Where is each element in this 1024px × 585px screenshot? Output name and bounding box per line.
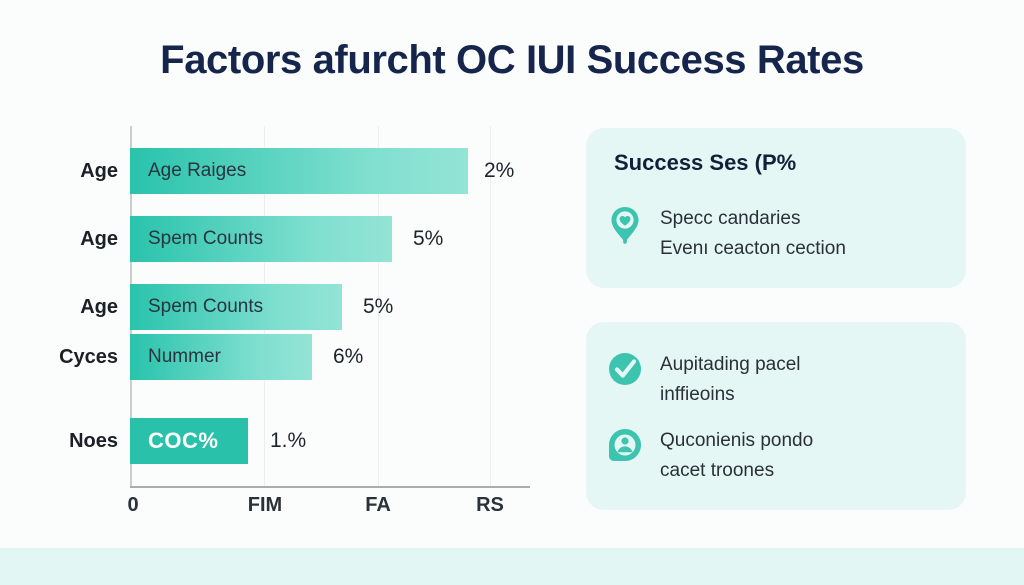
location-pin-heart-icon: [608, 206, 642, 244]
bar-chart: Age Age Age Cyces Noes Age Raiges 2% Spe…: [30, 126, 560, 526]
person-circle-icon: [608, 428, 642, 466]
bar-value-0: 2%: [484, 148, 514, 194]
card-item-2-0[interactable]: Aupitading pacel inffieoins: [608, 350, 801, 410]
card-item-1-0-text: Specc candaries Evenı ceacton cection: [660, 204, 846, 264]
card-item-2-1-text: Quconienis pondo cacet troones: [660, 426, 813, 486]
bar-value-2: 5%: [363, 284, 393, 330]
bar-value-1: 5%: [413, 216, 443, 262]
footer-band: [0, 548, 1024, 585]
bar-value-3: 6%: [333, 334, 363, 380]
card-item-1-0[interactable]: Specc candaries Evenı ceacton cection: [608, 204, 846, 264]
info-card-recommendations[interactable]: Aupitading pacel inffieoins Quconienis p…: [586, 322, 966, 510]
bar-value-4: 1.%: [270, 418, 306, 464]
bar-label-0: Age Raiges: [148, 148, 246, 194]
card-item-2-0-line-0: Aupitading pacel: [660, 354, 801, 375]
infographic-page: Factors afurcht OC IUI Success Rates Age…: [0, 0, 1024, 585]
card-item-2-0-text: Aupitading pacel inffieoins: [660, 350, 801, 410]
xtick-label-0: 0: [127, 494, 138, 517]
category-label-0: Age: [30, 148, 118, 194]
category-label-1: Age: [30, 216, 118, 262]
xtick-label-2: FA: [365, 494, 391, 517]
card-item-2-1[interactable]: Quconienis pondo cacet troones: [608, 426, 813, 486]
card-item-2-1-line-0: Quconienis pondo: [660, 430, 813, 451]
check-circle-icon: [608, 352, 642, 390]
x-axis-line: [130, 486, 530, 488]
bar-label-4: COC%: [148, 418, 218, 464]
page-title: Factors afurcht OC IUI Success Rates: [0, 38, 1024, 83]
card-heading-1: Success Ses (P%: [614, 150, 796, 176]
card-item-2-1-line-1: cacet troones: [660, 460, 774, 481]
category-label-4: Noes: [30, 418, 118, 464]
bar-label-2: Spem Counts: [148, 284, 263, 330]
info-card-success-rates[interactable]: Success Ses (P% Specc candaries Evenı ce…: [586, 128, 966, 288]
xtick-label-1: FIM: [248, 494, 282, 517]
plot-area: Age Raiges 2% Spem Counts 5% Spem Counts…: [130, 126, 530, 486]
card-item-1-0-line-0: Specc candaries: [660, 208, 800, 229]
bar-label-1: Spem Counts: [148, 216, 263, 262]
xtick-label-3: RS: [476, 494, 504, 517]
bar-label-3: Nummer: [148, 334, 221, 380]
category-label-3: Cyces: [30, 334, 118, 380]
category-label-2: Age: [30, 284, 118, 330]
card-item-1-0-line-1: Evenı ceacton cection: [660, 238, 846, 259]
card-item-2-0-line-1: inffieoins: [660, 384, 735, 405]
